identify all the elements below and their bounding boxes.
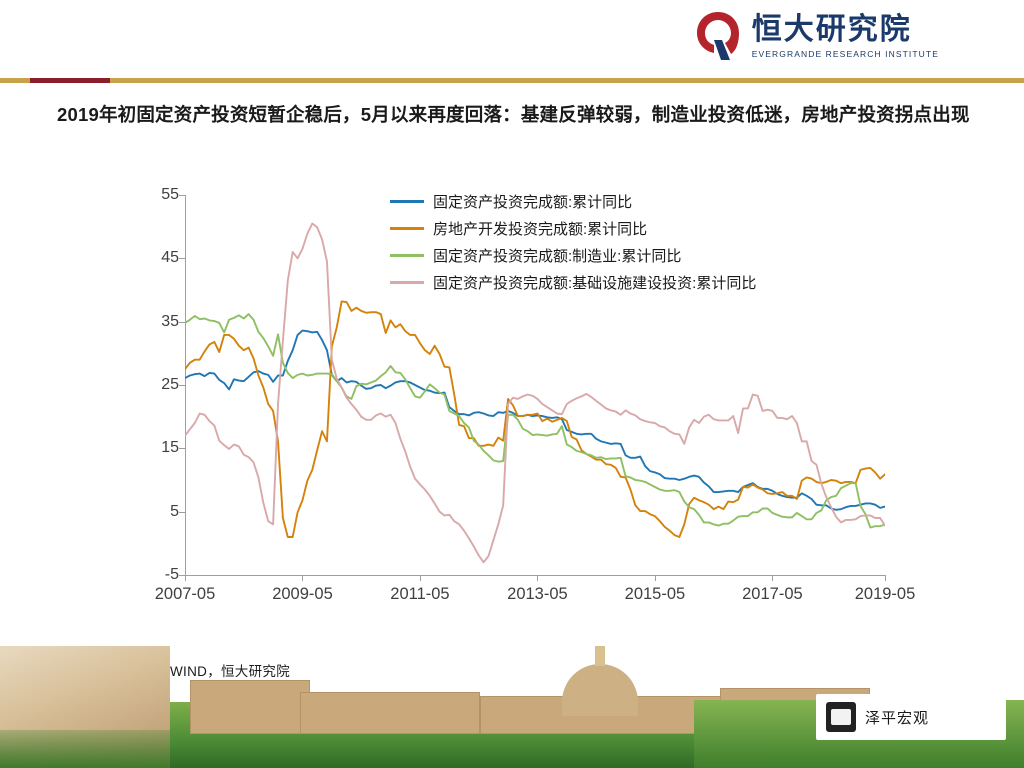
avatar bbox=[826, 702, 856, 732]
y-tick-label-3: 25 bbox=[139, 376, 179, 394]
wechat-badge[interactable]: 泽平宏观 bbox=[816, 694, 1006, 740]
series-line-3 bbox=[185, 224, 885, 563]
divider-segment-gold-right bbox=[110, 78, 1024, 83]
x-tick-mark-3 bbox=[537, 575, 538, 581]
x-tick-mark-1 bbox=[302, 575, 303, 581]
x-tick-label-5: 2017-05 bbox=[742, 585, 803, 604]
x-tick-label-3: 2013-05 bbox=[507, 585, 568, 604]
logo-text-en: EVERGRANDE RESEARCH INSTITUTE bbox=[752, 49, 939, 59]
x-tick-label-0: 2007-05 bbox=[155, 585, 216, 604]
x-tick-label-1: 2009-05 bbox=[272, 585, 333, 604]
badge-label: 泽平宏观 bbox=[865, 707, 929, 728]
chart-plot-area: -551525354555 2007-052009-052011-052013-… bbox=[185, 195, 885, 575]
x-tick-label-6: 2019-05 bbox=[855, 585, 916, 604]
x-tick-label-4: 2015-05 bbox=[625, 585, 686, 604]
chart-series-lines bbox=[185, 195, 885, 575]
series-line-0 bbox=[185, 331, 885, 510]
brand-logo: 恒大研究院 EVERGRANDE RESEARCH INSTITUTE bbox=[694, 10, 939, 62]
y-tick-label-1: 5 bbox=[139, 503, 179, 521]
x-tick-mark-6 bbox=[885, 575, 886, 581]
x-tick-mark-0 bbox=[185, 575, 186, 581]
footer-building-b bbox=[300, 692, 480, 734]
footer-dome bbox=[562, 664, 638, 716]
x-tick-label-2: 2011-05 bbox=[390, 585, 449, 604]
divider-segment-maroon bbox=[30, 78, 110, 83]
chart-container: 固定资产投资完成额:累计同比房地产开发投资完成额:累计同比固定资产投资完成额:制… bbox=[100, 180, 930, 640]
logo-text-cn: 恒大研究院 bbox=[752, 13, 939, 47]
evergrande-q-logo-icon bbox=[694, 10, 742, 62]
divider-segment-gold-left bbox=[0, 78, 30, 83]
page-title: 2019年初固定资产投资短暂企稳后，5月以来再度回落：基建反弹较弱，制造业投资低… bbox=[57, 99, 977, 130]
footer-building-left bbox=[0, 646, 170, 768]
x-tick-mark-4 bbox=[655, 575, 656, 581]
decorative-footer-band: 泽平宏观 bbox=[0, 646, 1024, 768]
y-tick-label-5: 45 bbox=[139, 249, 179, 267]
x-axis-line bbox=[185, 575, 885, 576]
y-tick-label-6: 55 bbox=[139, 186, 179, 204]
y-tick-label-2: 15 bbox=[139, 439, 179, 457]
y-tick-label-0: -5 bbox=[139, 566, 179, 584]
header-divider bbox=[0, 78, 1024, 83]
y-tick-label-4: 35 bbox=[139, 313, 179, 331]
x-tick-mark-2 bbox=[420, 575, 421, 581]
footer-building-a bbox=[190, 680, 310, 734]
series-line-1 bbox=[185, 301, 885, 537]
x-tick-mark-5 bbox=[772, 575, 773, 581]
page-header: 恒大研究院 EVERGRANDE RESEARCH INSTITUTE bbox=[0, 0, 1024, 78]
